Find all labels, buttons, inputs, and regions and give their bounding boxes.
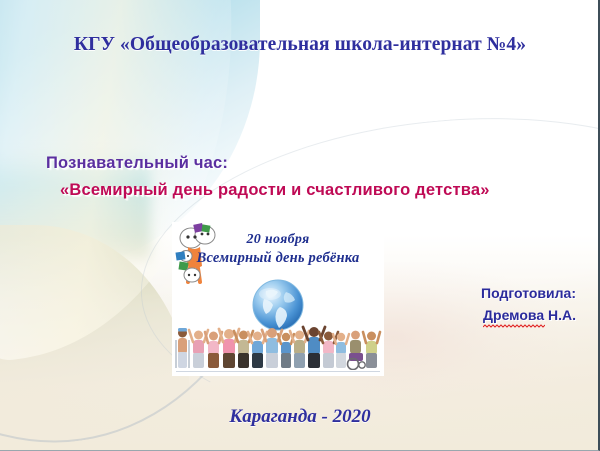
city-year: Караганда - 2020 — [0, 406, 600, 428]
subtitle-line-2: «Всемирный день радости и счастливого де… — [60, 177, 586, 204]
author-initials: Н.А. — [544, 307, 576, 323]
event-subtitle: Познавательный час: «Всемирный день радо… — [46, 150, 586, 204]
spellcheck-underline-icon — [483, 324, 545, 328]
school-title: КГУ «Общеобразовательная школа-интернат … — [0, 34, 600, 56]
central-illustration: 20 ноября Всемирный день ребёнка — [172, 222, 384, 376]
presentation-slide: КГУ «Общеобразовательная школа-интернат … — [0, 0, 600, 451]
children-group-icon — [174, 318, 382, 370]
illustration-baseline — [176, 371, 380, 372]
illustration-heading: 20 ноября Всемирный день ребёнка — [172, 230, 384, 268]
author-name: Дремова — [483, 304, 544, 326]
illustration-date: 20 ноября — [172, 230, 384, 249]
subtitle-line-1: Познавательный час: — [46, 150, 586, 177]
author-credit: Подготовила: Дремова Н.А. — [481, 282, 576, 326]
author-name-text: Дремова — [483, 307, 544, 323]
author-line: Дремова Н.А. — [481, 304, 576, 326]
author-label: Подготовила: — [481, 282, 576, 304]
illustration-day-name: Всемирный день ребёнка — [172, 249, 384, 268]
